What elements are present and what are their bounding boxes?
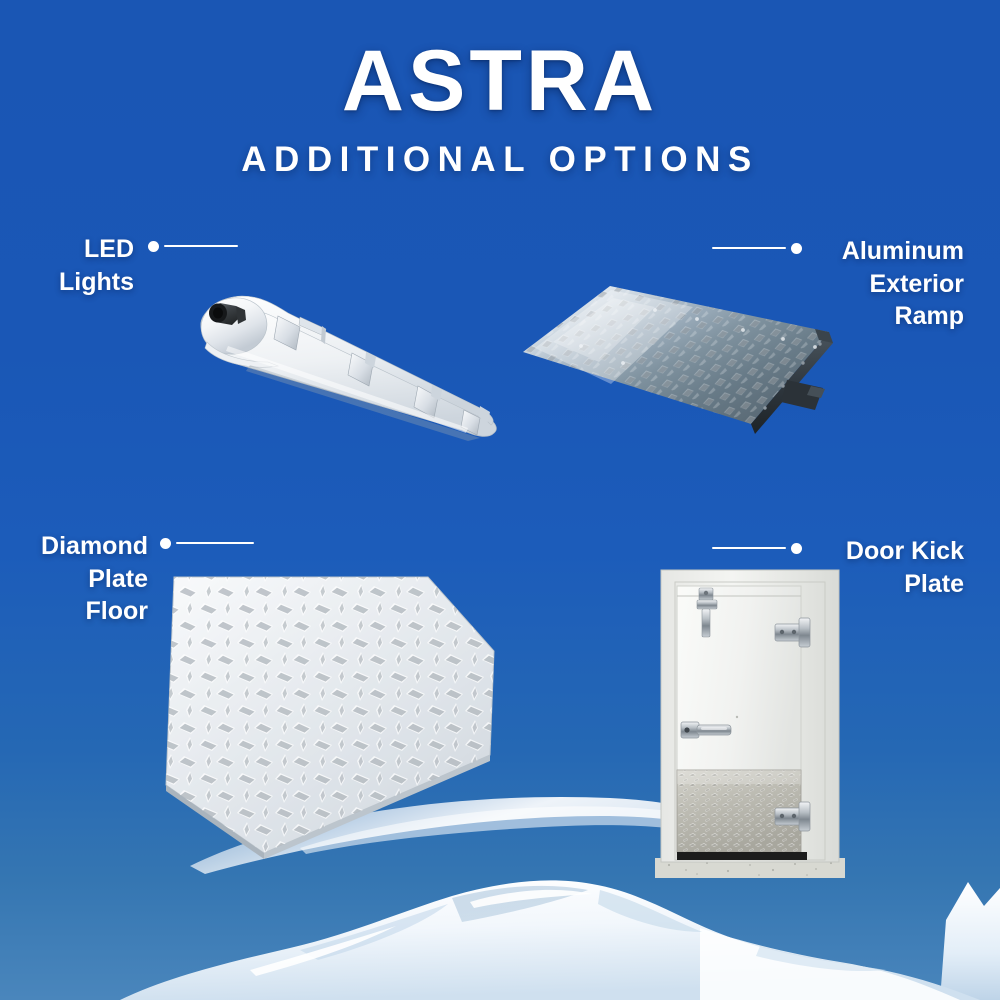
poster-header: ASTRA ADDITIONAL OPTIONS bbox=[0, 38, 1000, 180]
callout-label-led-lights: LED Lights bbox=[18, 233, 134, 298]
leader-bar bbox=[164, 245, 238, 247]
leader-line-diamond-plate-floor bbox=[160, 530, 254, 556]
brand-title: ASTRA bbox=[0, 38, 1000, 126]
page-subtitle: ADDITIONAL OPTIONS bbox=[0, 140, 1000, 180]
mountain-main bbox=[120, 880, 980, 1000]
callout-led-lights: LED Lights bbox=[18, 233, 268, 298]
callout-diamond-plate-floor: Diamond Plate Floor bbox=[8, 530, 263, 628]
leader-dot-icon bbox=[791, 543, 802, 554]
product-image-cold-room-door bbox=[655, 562, 845, 878]
leader-line-led-lights bbox=[148, 233, 238, 259]
leader-bar bbox=[712, 247, 786, 249]
door-threshold-strip bbox=[677, 852, 807, 860]
leader-bar bbox=[712, 547, 786, 549]
callout-label-door-kick-plate: Door Kick Plate bbox=[814, 535, 964, 600]
poster-canvas: ASTRA ADDITIONAL OPTIONS LED Lights Alum… bbox=[0, 0, 1000, 1000]
leader-line-aluminum-ramp bbox=[712, 235, 802, 261]
ramp-mounting-bracket bbox=[781, 380, 825, 410]
mountain-highlights bbox=[250, 890, 592, 976]
mountain-shading bbox=[300, 886, 886, 971]
leader-dot-icon bbox=[160, 538, 171, 549]
leader-line-door-kick-plate bbox=[712, 535, 802, 561]
callout-door-kick-plate: Door Kick Plate bbox=[712, 535, 982, 600]
leader-dot-icon bbox=[791, 243, 802, 254]
callout-aluminum-exterior-ramp: Aluminum Exterior Ramp bbox=[712, 235, 982, 333]
leader-dot-icon bbox=[148, 241, 159, 252]
mountain-shelf-right bbox=[700, 928, 960, 1000]
callout-label-diamond-plate-floor: Diamond Plate Floor bbox=[8, 530, 148, 628]
door-leaf-fastener bbox=[736, 716, 738, 718]
callout-label-aluminum-exterior-ramp: Aluminum Exterior Ramp bbox=[814, 235, 964, 333]
leader-bar bbox=[176, 542, 254, 544]
snow-ridge-right bbox=[940, 882, 1000, 1000]
